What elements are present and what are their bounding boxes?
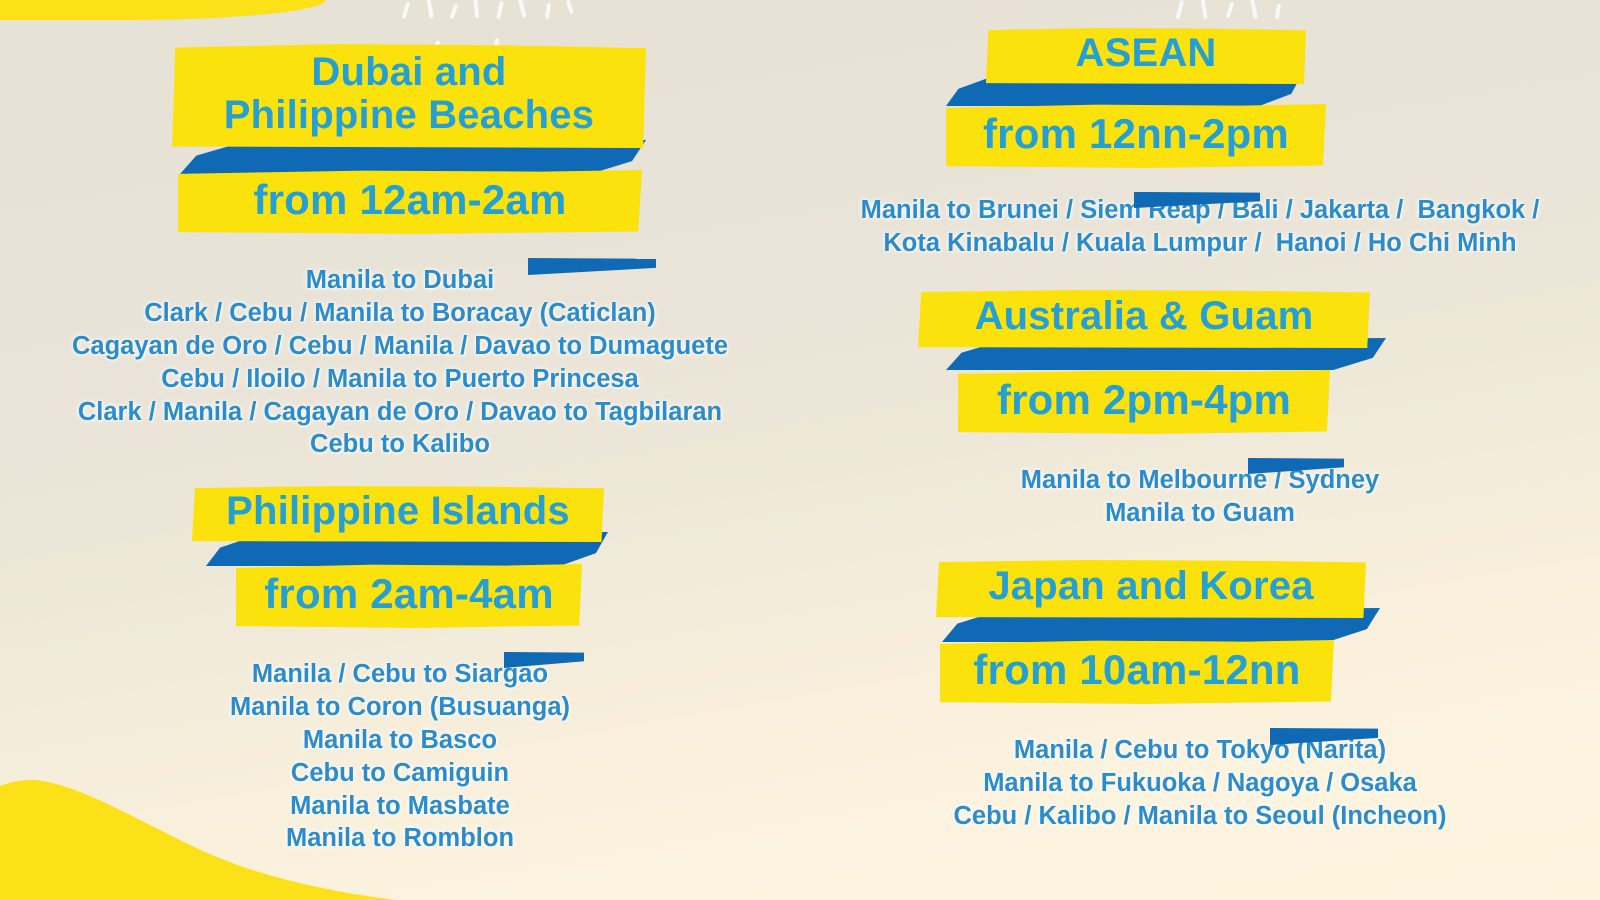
- route-list: Manila to Dubai Clark / Cebu / Manila to…: [0, 264, 800, 461]
- section-time-label: from 12am-2am: [253, 179, 566, 221]
- section-philippine-islands: Philippine Islands from 2am-4am Manila /…: [0, 486, 800, 855]
- route-item: Manila to Guam: [800, 497, 1600, 530]
- route-list: Manila to Melbourne / Sydney Manila to G…: [800, 464, 1600, 530]
- section-time-label: from 10am-12nn: [973, 649, 1300, 691]
- route-item: Cebu / Iloilo / Manila to Puerto Princes…: [0, 363, 800, 396]
- route-item: Manila / Cebu to Siargao: [0, 658, 800, 691]
- section-title-banner: Australia & Guam: [918, 290, 1370, 348]
- section-title-line-1: Philippine Islands: [226, 490, 570, 533]
- section-time-label: from 2am-4am: [264, 573, 554, 615]
- section-title-banner: ASEAN: [986, 28, 1306, 84]
- section-title-line-1: Australia & Guam: [975, 295, 1314, 338]
- section-japan-and-korea: Japan and Korea from 10am-12nn Manila / …: [800, 560, 1600, 833]
- section-title-line-1: Japan and Korea: [988, 565, 1313, 608]
- route-item: Manila to Romblon: [0, 822, 800, 855]
- yellow-corner-accent-top-left: [0, 0, 326, 20]
- route-item: Manila to Masbate: [0, 790, 800, 823]
- banner-group: Dubai and Philippine Beaches from 12am-2…: [172, 44, 646, 234]
- section-title-line-2: Philippine Beaches: [224, 94, 594, 137]
- section-dubai-and-philippine-beaches: Dubai and Philippine Beaches from 12am-2…: [0, 44, 800, 461]
- section-title-line-1: ASEAN: [1075, 32, 1216, 75]
- section-time-banner: from 12am-2am: [178, 170, 642, 234]
- banner-group: Japan and Korea from 10am-12nn: [936, 560, 1366, 704]
- route-item: Manila to Dubai: [0, 264, 800, 297]
- section-time-banner: from 2am-4am: [236, 564, 582, 628]
- route-item: Manila to Basco: [0, 724, 800, 757]
- section-title-banner: Dubai and Philippine Beaches: [172, 44, 646, 148]
- section-time-banner: from 10am-12nn: [940, 640, 1334, 704]
- section-australia-and-guam: Australia & Guam from 2pm-4pm Manila to …: [800, 290, 1600, 530]
- route-item: Cagayan de Oro / Cebu / Manila / Davao t…: [0, 330, 800, 363]
- section-title-banner: Philippine Islands: [192, 486, 604, 542]
- section-time-banner: from 2pm-4pm: [958, 370, 1330, 434]
- route-list: Manila / Cebu to Tokyo (Narita) Manila t…: [800, 734, 1600, 833]
- promo-graphic: Dubai and Philippine Beaches from 12am-2…: [0, 0, 1600, 900]
- route-item: Manila / Cebu to Tokyo (Narita): [800, 734, 1600, 767]
- route-item: Cebu to Camiguin: [0, 757, 800, 790]
- route-item: Manila to Coron (Busuanga): [0, 691, 800, 724]
- section-time-banner: from 12nn-2pm: [946, 104, 1326, 168]
- section-asean: ASEAN from 12nn-2pm Manila to Brunei / S…: [800, 28, 1600, 260]
- banner-group: Philippine Islands from 2am-4am: [192, 486, 604, 628]
- section-time-label: from 12nn-2pm: [983, 113, 1289, 155]
- route-item: Cebu to Kalibo: [0, 428, 800, 461]
- route-item: Kota Kinabalu / Kuala Lumpur / Hanoi / H…: [800, 227, 1600, 260]
- route-item: Clark / Manila / Cagayan de Oro / Davao …: [0, 396, 800, 429]
- section-title-line-1: Dubai and: [311, 51, 506, 94]
- banner-group: Australia & Guam from 2pm-4pm: [918, 290, 1370, 434]
- section-title-banner: Japan and Korea: [936, 560, 1366, 618]
- route-item: Manila to Melbourne / Sydney: [800, 464, 1600, 497]
- route-item: Manila to Fukuoka / Nagoya / Osaka: [800, 767, 1600, 800]
- banner-group: ASEAN from 12nn-2pm: [986, 28, 1306, 168]
- route-item: Cebu / Kalibo / Manila to Seoul (Incheon…: [800, 800, 1600, 833]
- route-list: Manila / Cebu to Siargao Manila to Coron…: [0, 658, 800, 855]
- section-time-label: from 2pm-4pm: [997, 379, 1291, 421]
- route-item: Clark / Cebu / Manila to Boracay (Caticl…: [0, 297, 800, 330]
